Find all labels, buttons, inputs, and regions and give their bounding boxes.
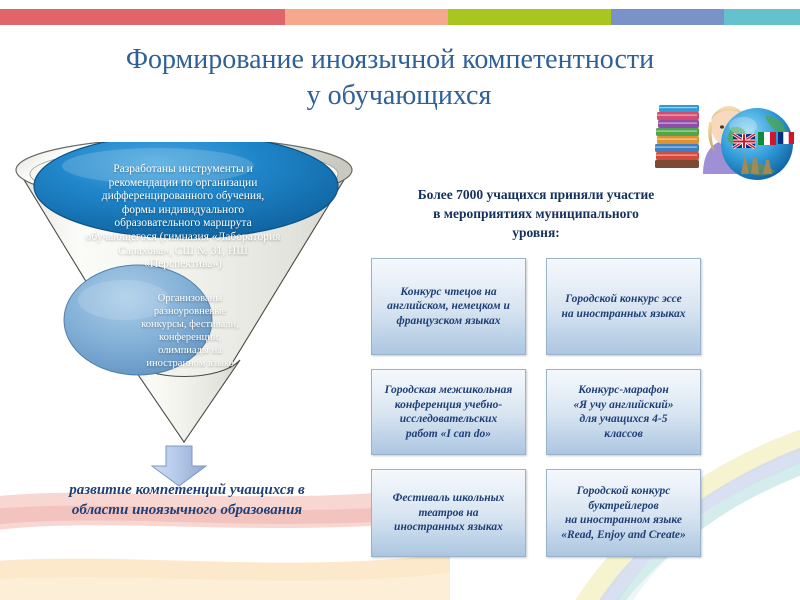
slide-canvas: Формирование иноязычной компетентности у…	[0, 0, 800, 600]
card-row-1: Конкурс чтецов на английском, немецком и…	[371, 258, 701, 355]
activity-card-konkurs-marafon[interactable]: Конкурс-марафон «Я учу английский» для у…	[546, 369, 701, 455]
colorbar-segment-red	[0, 9, 285, 25]
girl-with-globe-and-books-photo	[645, 82, 797, 194]
page-title: Формирование иноязычной компетентности у…	[60, 42, 720, 114]
activity-card-text: Конкурс чтецов на английском, немецком и…	[387, 285, 510, 329]
conclusion-line-2: области иноязычного образования	[22, 500, 352, 520]
card-row-2: Городская межшкольная конференция учебно…	[371, 369, 701, 455]
activity-card-text: Городской конкурс эссе на иностранных яз…	[562, 292, 686, 321]
activity-card-text: Конкурс-марафон «Я учу английский» для у…	[573, 383, 673, 441]
activity-card-konkurs-buktreylerov[interactable]: Городской конкурс буктрейлеров на иностр…	[546, 469, 701, 557]
france-flag-icon	[778, 132, 794, 144]
globe-with-flags-icon	[721, 108, 794, 180]
right-heading-line-3: уровня:	[368, 223, 704, 242]
conclusion-line-1: развитие компетенций учащихся в	[22, 480, 352, 500]
activity-card-konkurs-chtecov[interactable]: Конкурс чтецов на английском, немецком и…	[371, 258, 526, 355]
uk-flag-icon	[733, 134, 755, 148]
top-color-bar	[0, 9, 800, 25]
activity-card-text: Городская межшкольная конференция учебно…	[385, 383, 513, 441]
italy-flag-icon	[758, 132, 776, 145]
colorbar-segment-teal	[724, 9, 800, 25]
activity-card-mezhshkolnaya-konferenciya[interactable]: Городская межшкольная конференция учебно…	[371, 369, 526, 455]
title-line-2: у обучающихся	[78, 78, 720, 114]
activity-card-text: Городской конкурс буктрейлеров на иностр…	[561, 484, 686, 542]
right-panel-heading: Более 7000 учащихся приняли участие в ме…	[368, 185, 704, 242]
title-line-1: Формирование иноязычной компетентности	[60, 42, 720, 78]
colorbar-segment-green	[448, 9, 611, 25]
activity-card-festival-teatrov[interactable]: Фестиваль школьных театров на иностранны…	[371, 469, 526, 557]
conclusion-text: развитие компетенций учащихся в области …	[22, 480, 352, 520]
book-stack-icon	[655, 105, 699, 168]
colorbar-segment-blue	[611, 9, 724, 25]
activity-cards-grid: Конкурс чтецов на английском, немецком и…	[371, 258, 701, 571]
activity-card-text: Фестиваль школьных театров на иностранны…	[393, 491, 505, 535]
funnel-diagram	[8, 142, 360, 452]
activity-card-gorodskoy-konkurs-esse[interactable]: Городской конкурс эссе на иностранных яз…	[546, 258, 701, 355]
right-heading-line-2: в мероприятиях муниципального	[368, 204, 704, 223]
colorbar-segment-peach	[285, 9, 448, 25]
right-heading-line-1: Более 7000 учащихся приняли участие	[368, 185, 704, 204]
card-row-3: Фестиваль школьных театров на иностранны…	[371, 469, 701, 557]
